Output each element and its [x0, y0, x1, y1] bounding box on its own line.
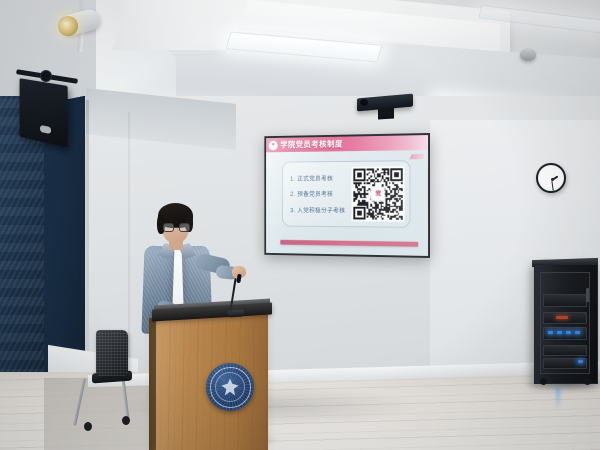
wall-speaker — [20, 78, 68, 147]
clock-center-pin — [551, 178, 554, 181]
clock-minute-hand — [551, 180, 554, 190]
slide-title: 学院党员考核制度 — [280, 139, 343, 151]
university-seal-emblem — [206, 363, 254, 411]
rack-led-indicator — [578, 360, 583, 363]
wall-clock — [536, 163, 566, 193]
slide-content-card: 1. 正式党员考核 2. 预备党员考核 3. 入党积极分子考核 党 — [282, 160, 410, 228]
qr-center-logo: 党 — [371, 187, 385, 202]
rack-unit — [543, 294, 587, 307]
qr-center-label: 党 — [375, 191, 381, 197]
spotlight-lamp-icon — [58, 16, 78, 36]
chair-caster — [122, 416, 130, 425]
slide-bottom-accent-bar — [280, 240, 418, 247]
projector-lens-icon — [360, 99, 368, 106]
projection-screen-frame: ✦ 学院党员考核制度 1. 正式党员考核 2. 预备党员考核 3. 入党积极分子… — [264, 133, 430, 258]
rack-caster — [540, 378, 547, 385]
rack-caster — [584, 378, 591, 385]
rack-led-indicator — [548, 331, 553, 334]
chair-mesh-texture — [96, 330, 128, 376]
wall-corner — [86, 100, 89, 386]
speaker-mount-knob — [40, 70, 52, 82]
glasses-lens-left — [163, 223, 174, 232]
list-item: 2. 预备党员考核 — [290, 190, 347, 199]
glasses-bridge — [174, 227, 179, 228]
clock-face — [540, 167, 562, 189]
slide-logo-glyph: ✦ — [271, 142, 276, 149]
rack-door-handle — [586, 288, 589, 302]
slide-corner-accent — [409, 154, 425, 159]
slide-item-list: 1. 正式党员考核 2. 预备党员考核 3. 入党积极分子考核 — [283, 170, 348, 218]
qr-code: 党 — [352, 166, 405, 222]
rack-led-indicator — [566, 331, 571, 334]
rack-led-floor-reflection — [556, 388, 560, 410]
rack-amber-indicator — [556, 316, 568, 319]
presenter-glasses-icon — [163, 223, 191, 232]
rack-led-indicator — [557, 331, 562, 334]
lecture-hall-photo: ✦ 学院党员考核制度 1. 正式党员考核 2. 预备党员考核 3. 入党积极分子… — [0, 0, 600, 450]
slide-logo-icon: ✦ — [269, 140, 278, 150]
list-item: 3. 入党积极分子考核 — [290, 205, 347, 214]
wall-seam — [128, 112, 130, 382]
glasses-lens-right — [179, 223, 190, 232]
rack-led-indicator — [575, 331, 580, 334]
smoke-detector-icon — [520, 48, 536, 61]
slide-title-bar: ✦ 学院党员考核制度 — [266, 135, 428, 152]
list-item: 1. 正式党员考核 — [290, 174, 347, 183]
chair-caster — [84, 422, 92, 431]
qr-code-area: 党 — [347, 166, 409, 222]
projection-screen: ✦ 学院党员考核制度 1. 正式党员考核 2. 预备党员考核 3. 入党积极分子… — [266, 135, 428, 256]
rack-unit — [543, 345, 587, 356]
